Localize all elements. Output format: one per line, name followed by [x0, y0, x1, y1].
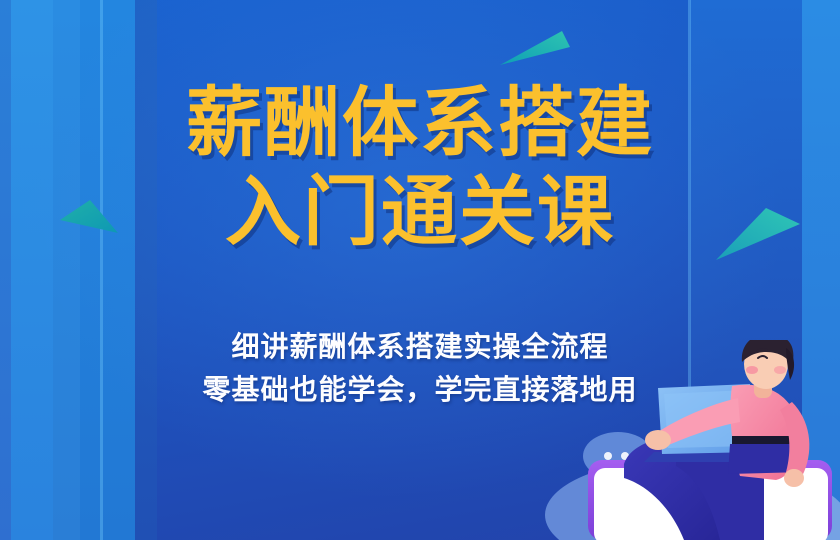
- background-band-left-0: [0, 0, 11, 540]
- page-title: 薪酬体系搭建 入门通关课: [0, 84, 840, 253]
- title-line-2: 入门通关课: [0, 173, 840, 254]
- person-hand-right: [784, 469, 804, 487]
- background-band-left-1: [11, 0, 53, 540]
- subtitle: 细讲薪酬体系搭建实操全流程 零基础也能学会，学完直接落地用: [0, 325, 840, 412]
- subtitle-line-2: 零基础也能学会，学完直接落地用: [0, 368, 840, 411]
- background-sheen-left: [100, 0, 103, 540]
- person-hand-left: [645, 430, 671, 450]
- background-band-left-4: [135, 0, 157, 540]
- background-band-left-3: [80, 0, 135, 540]
- course-promo-poster: 薪酬体系搭建 入门通关课 细讲薪酬体系搭建实操全流程 零基础也能学会，学完直接落…: [0, 0, 840, 540]
- subtitle-line-1: 细讲薪酬体系搭建实操全流程: [0, 325, 840, 368]
- background-band-left-2: [53, 0, 80, 540]
- teal-triangle-top-center-icon: [500, 25, 580, 73]
- title-line-1: 薪酬体系搭建: [0, 84, 840, 165]
